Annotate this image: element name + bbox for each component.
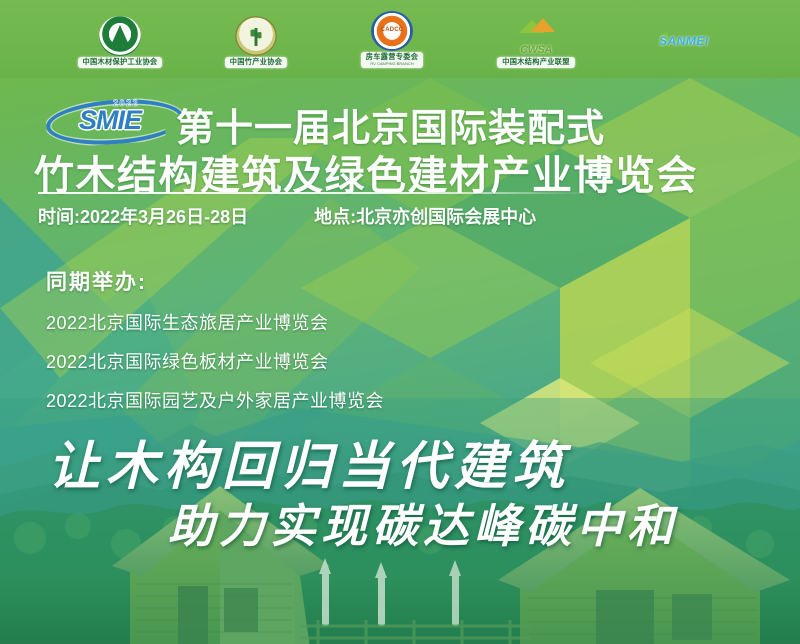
concurrent-events: 同期举办: 2022北京国际生态旅居产业博览会 2022北京国际绿色板材产业博览… (46, 266, 384, 413)
bamboo-medal-icon (235, 16, 277, 56)
sponsor-label-0: 中国木材保护工业协会 (78, 57, 163, 68)
sponsor-logo-3: CWSA 中国木结构产业联盟 (480, 10, 592, 68)
smie-wordmark: SMIE (54, 105, 166, 136)
sponsor-label-4 (675, 65, 685, 68)
title-divider (38, 192, 594, 194)
concurrent-heading: 同期举办: (46, 266, 384, 296)
sponsor-label-3: 中国木结构产业联盟 (497, 57, 574, 68)
sponsor-label-1: 中国竹产业协会 (225, 57, 287, 68)
sponsor-logo-1: 中国竹产业协会 (208, 10, 304, 68)
sponsor-label-text-2: 房车露营专委会 (366, 52, 418, 61)
sponsor-logo-4: SANMEI (632, 10, 728, 68)
cadcc-ring-icon (371, 11, 413, 51)
sponsor-label-text-3: 中国木结构产业联盟 (502, 57, 569, 66)
smie-brand-logo: 2022 SMIE (46, 96, 176, 140)
concurrent-item-1: 2022北京国际绿色板材产业博览会 (46, 348, 384, 374)
sponsor-label-text-1: 中国竹产业协会 (230, 57, 282, 66)
sanmei-wordmark: SANMEI (659, 34, 701, 48)
leaf-wordmark-icon: SANMEI (659, 24, 701, 64)
cwsa-wordmark: CWSA (515, 44, 557, 56)
sponsor-logo-strip: 中国木材保护工业协会 中国竹产业协会 房车露营专委会 RV CAMPING BR… (0, 0, 800, 78)
house-roof-icon: CWSA (515, 16, 557, 56)
sponsor-label-text-0: 中国木材保护工业协会 (83, 57, 158, 66)
slogan-line2: 助力实现碳达峰碳中和 (168, 490, 678, 556)
event-venue: 地点:北京亦创国际会展中心 (314, 207, 536, 227)
exhibition-poster: 中国木材保护工业协会 中国竹产业协会 房车露营专委会 RV CAMPING BR… (0, 0, 800, 644)
sponsor-logo-0: 中国木材保护工业协会 (72, 10, 168, 68)
event-meta: 时间:2022年3月26日-28日 地点:北京亦创国际会展中心 (38, 203, 738, 229)
concurrent-item-0: 2022北京国际生态旅居产业博览会 (46, 309, 384, 335)
sponsor-sublabel-2: RV CAMPING BRANCH (366, 61, 418, 66)
poster-content: 2022 SMIE 第十一届北京国际装配式 竹木结构建筑及绿色建材产业博览会 时… (0, 0, 800, 644)
event-date: 时间:2022年3月26日-28日 (38, 207, 248, 227)
slogan-line1: 让木构回归当代建筑 (48, 424, 570, 499)
concurrent-item-2: 2022北京国际园艺及户外家居产业博览会 (46, 387, 384, 413)
sponsor-label-2: 房车露营专委会 RV CAMPING BRANCH (361, 52, 423, 68)
sponsor-logo-2: 房车露营专委会 RV CAMPING BRANCH (344, 10, 440, 68)
green-ring-tree-icon (99, 16, 141, 56)
